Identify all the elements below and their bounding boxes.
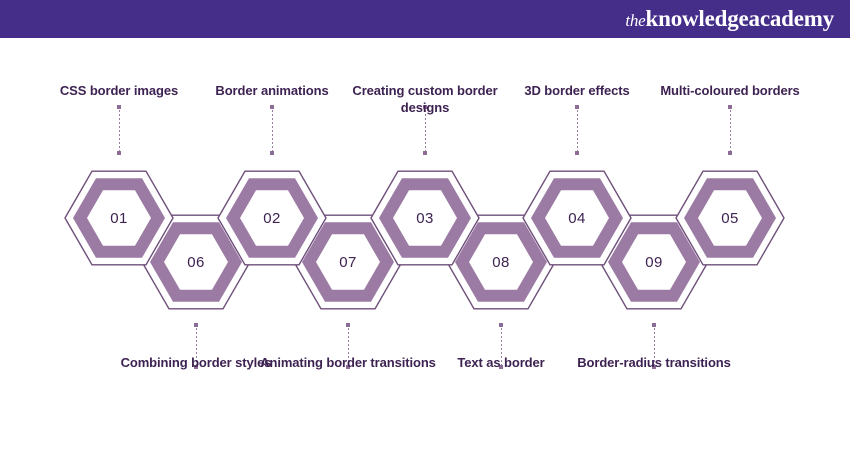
label-layer: CSS border imagesBorder animationsCreati…: [0, 38, 850, 450]
node-label-09: Border-radius transitions: [564, 354, 744, 371]
node-label-05: Multi-coloured borders: [640, 82, 820, 99]
page-header: theknowledgeacademy: [0, 0, 850, 38]
honeycomb-diagram: 010203040506070809 CSS border imagesBord…: [0, 38, 850, 450]
infographic-page: theknowledgeacademy 010203040506070809 C…: [0, 0, 850, 450]
brand-logo: theknowledgeacademy: [625, 5, 834, 35]
brand-logo-prefix: the: [625, 11, 645, 30]
brand-logo-main: knowledgeacademy: [646, 6, 834, 31]
